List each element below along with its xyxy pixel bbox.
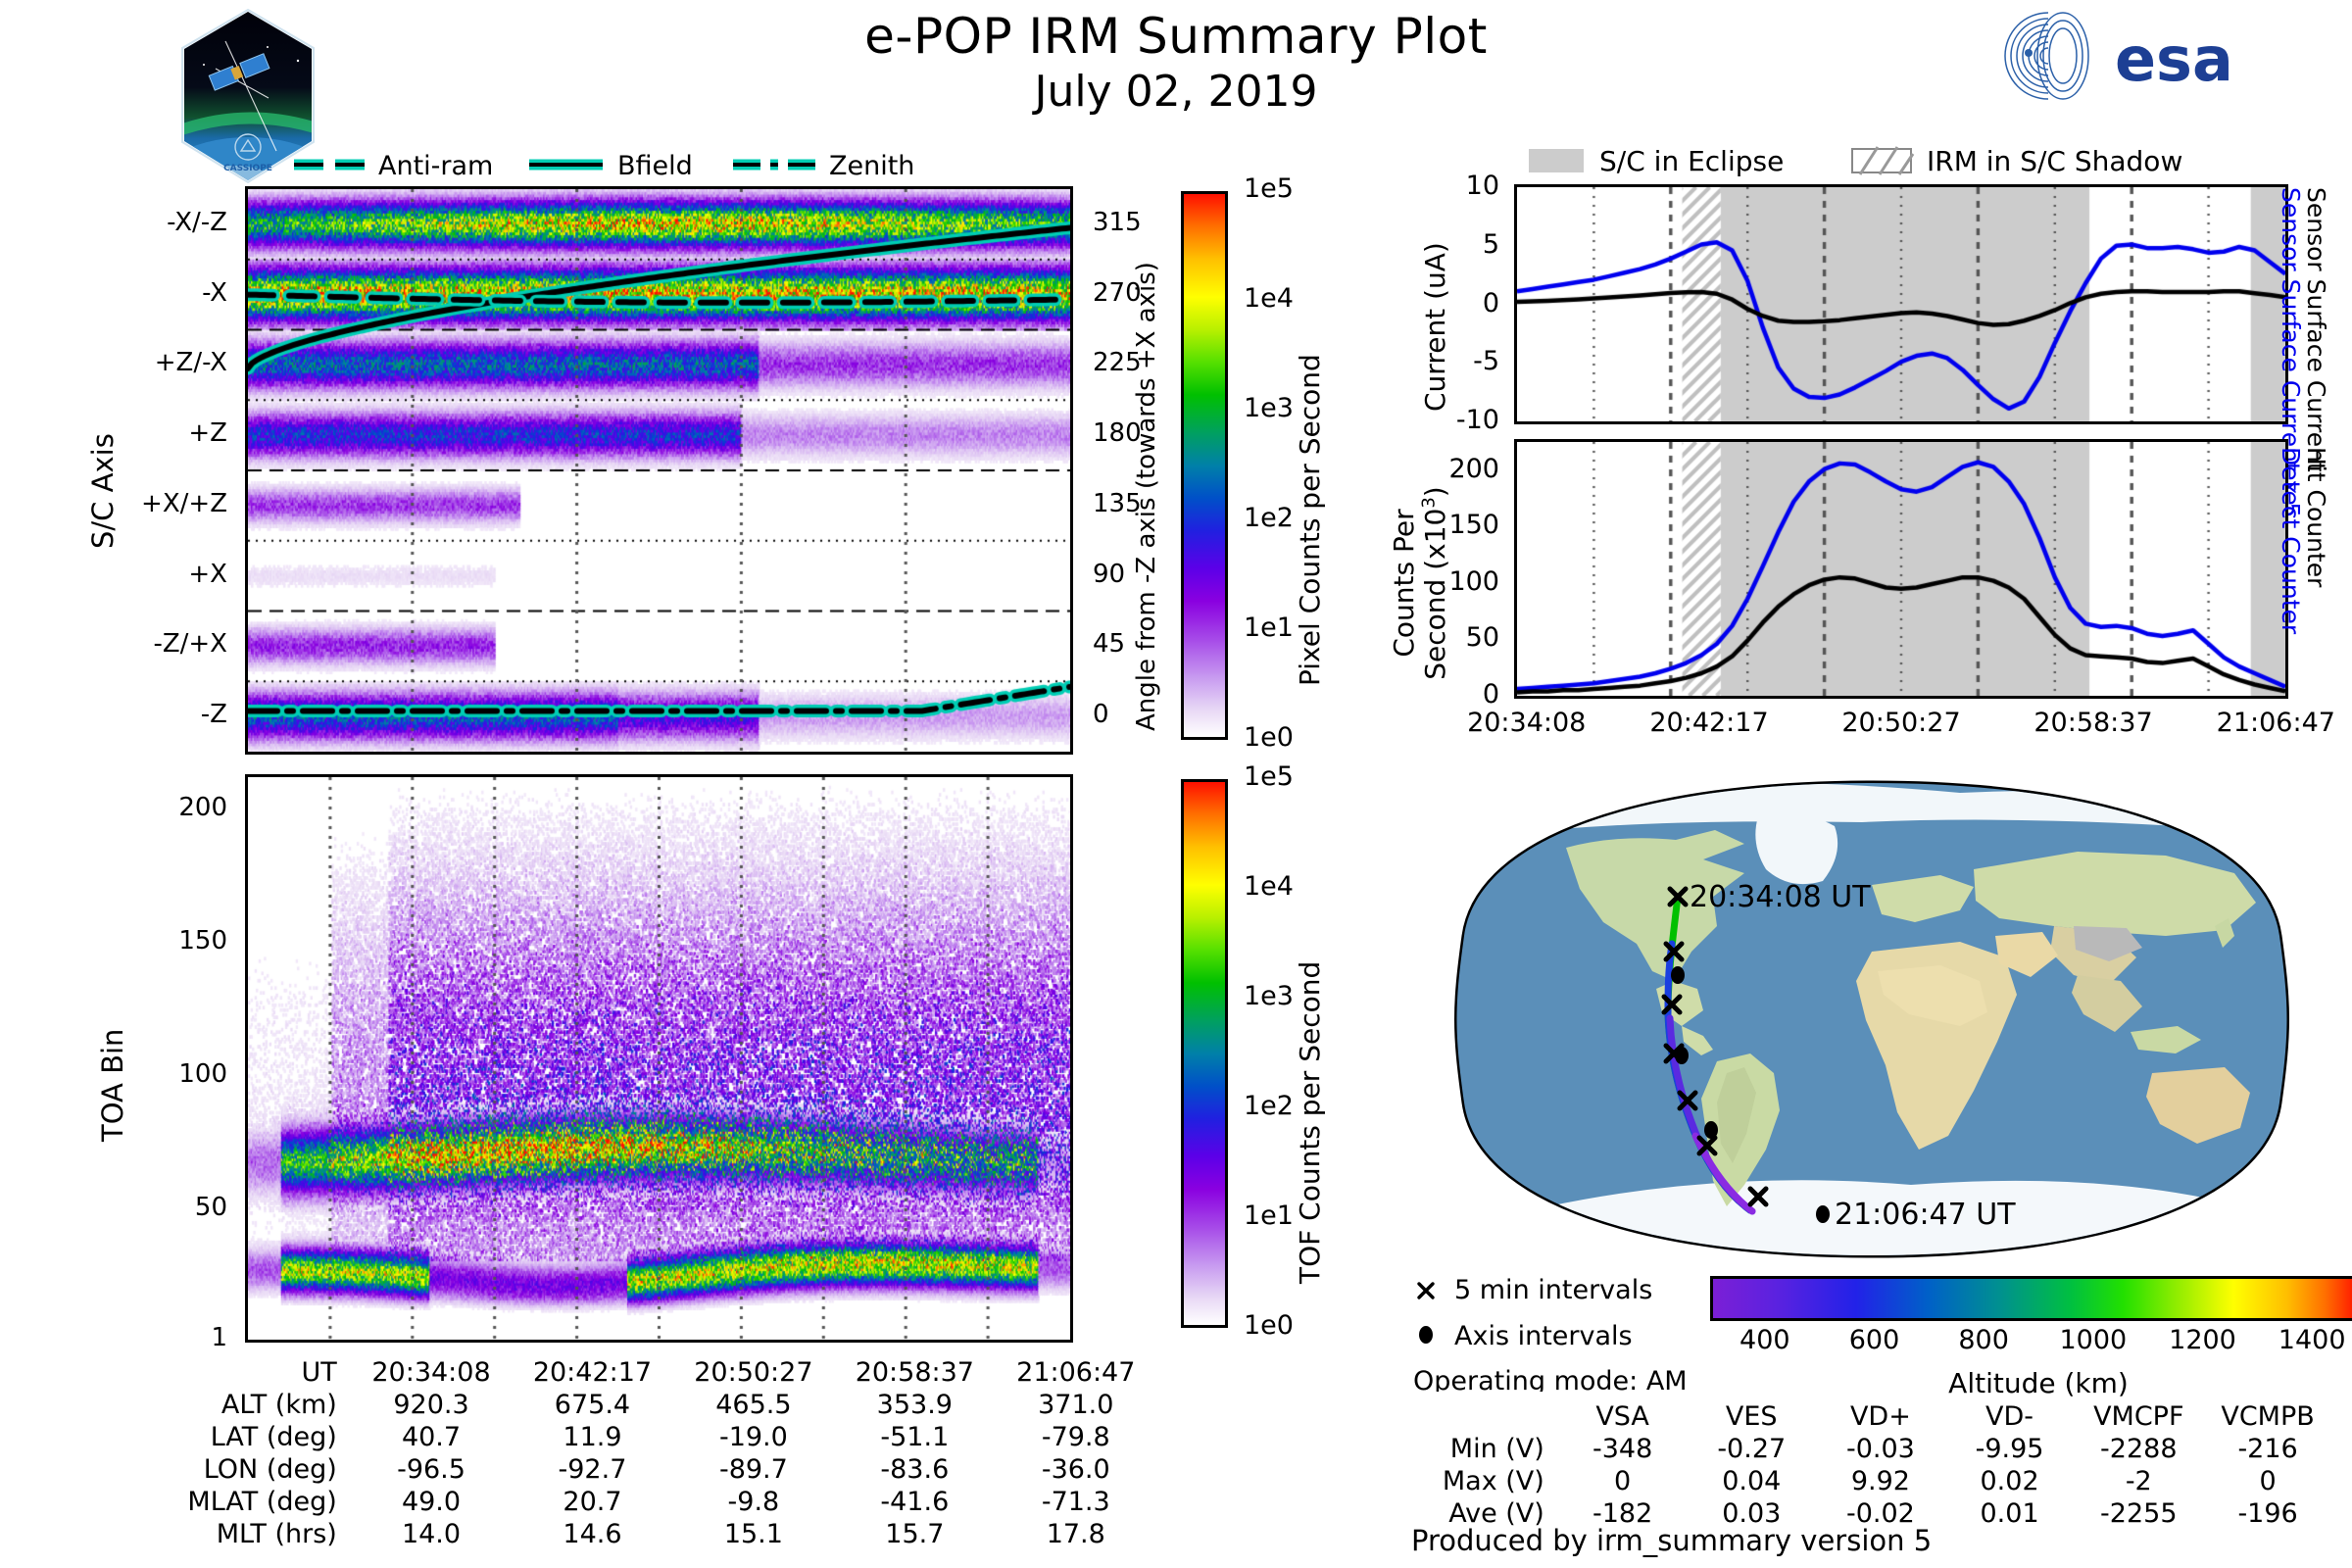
toa-ytick-1: 150 [178,926,227,955]
sc-axis-ytick-5: +X [188,560,227,589]
altitude-colorbar-label: Altitude (km) [1710,1367,2352,1399]
current-panel [1514,184,2288,424]
ephemeris-cell-ut-1: 20:42:17 [512,1357,672,1390]
voltage-col-header-vd: VD+ [1816,1401,1945,1434]
altitude-tick-1: 600 [1849,1325,1900,1355]
counts-xtick-4: 21:06:47 [2217,708,2335,738]
cvc1-ytick-0: 10 [1466,171,1499,201]
voltage-rowlabel-0: Min (V) [1411,1434,1558,1466]
voltage-cell-1-1: 0.04 [1687,1466,1816,1498]
ephemeris-row-mlat: MLAT (deg)49.020.7-9.8-41.6-71.3 [20,1487,1156,1519]
ephemeris-table: UT20:34:0820:42:1720:50:2720:58:3721:06:… [20,1357,1156,1551]
ephemeris-cell-alt-3: 353.9 [834,1390,995,1422]
voltage-cell-1-3: 0.02 [1945,1466,2075,1498]
legend-label-eclipse: S/C in Eclipse [1599,145,1784,177]
ephemeris-cell-lon-1: -92.7 [512,1454,672,1487]
toa-ytick-3: 50 [195,1193,227,1222]
sc-axis-ytick-3: +Z [188,418,227,448]
voltage-cell-2-3: 0.01 [1945,1498,2075,1531]
ephemeris-cell-lon-0: -96.5 [351,1454,512,1487]
ephemeris-cell-lon-3: -83.6 [834,1454,995,1487]
cvc2-ytick-1: 150 [1448,510,1499,540]
ephemeris-cell-mlat-1: 20.7 [512,1487,672,1519]
current-y2label-black: Sensor Surface Current [2330,186,2352,217]
ephemeris-rowlabel-lat: LAT (deg) [20,1422,351,1454]
sc-axis-y2tick-0: 315 [1093,208,1142,237]
ephemeris-row-ut: UT20:34:0820:42:1720:50:2720:58:3721:06:… [20,1357,1156,1390]
ephemeris-cell-mlat-3: -41.6 [834,1487,995,1519]
ephemeris-cell-lat-2: -19.0 [673,1422,834,1454]
tof-cb-tick-2: 1e3 [1244,981,1294,1011]
legend-label-anti-ram: Anti-ram [378,151,493,181]
sc-axis-ytick-1: -X [202,278,227,308]
ephemeris-cell-mlt-2: 15.1 [673,1519,834,1551]
pixel-cb-tick-3: 1e2 [1244,503,1294,533]
ephemeris-row-alt: ALT (km)920.3675.4465.5353.9371.0 [20,1390,1156,1422]
voltage-col-header-vd: VD- [1945,1401,2075,1434]
pixel-cb-tick-0: 1e5 [1244,173,1294,204]
ephemeris-cell-mlt-3: 15.7 [834,1519,995,1551]
tof-cb-tick-1: 1e4 [1244,871,1294,902]
altitude-tick-5: 1400 [2278,1325,2346,1355]
page-subtitle: July 02, 2019 [588,67,1764,117]
ephemeris-rowlabel-mlt: MLT (hrs) [20,1519,351,1551]
voltage-cell-1-0: 0 [1558,1466,1688,1498]
ephemeris-cell-ut-0: 20:34:08 [351,1357,512,1390]
ephemeris-cell-mlt-4: 17.8 [996,1519,1156,1551]
voltage-col-header-vcmpb: VCMPB [2203,1401,2332,1434]
pixel-cb-tick-4: 1e1 [1244,612,1294,643]
sc-axis-ytick-0: -X/-Z [167,208,227,237]
ephemeris-cell-mlat-4: -71.3 [996,1487,1156,1519]
voltage-cell-2-5: -196 [2203,1498,2332,1531]
cvc2-ytick-4: 0 [1483,679,1499,710]
voltage-cell-0-0: -348 [1558,1434,1688,1466]
legend-label-bfield: Bfield [617,151,693,181]
footer-produced-by: Produced by irm_summary version 5 [1411,1524,1932,1557]
ephemeris-cell-lon-2: -89.7 [673,1454,834,1487]
cvc2-ytick-3: 50 [1466,622,1499,653]
altitude-tick-4: 1200 [2169,1325,2236,1355]
ephemeris-cell-lat-3: -51.1 [834,1422,995,1454]
toa-ytick-0: 200 [178,793,227,822]
ephemeris-cell-mlat-2: -9.8 [673,1487,834,1519]
pixel-counts-colorbar [1181,191,1228,740]
ephemeris-cell-lat-4: -79.8 [996,1422,1156,1454]
ephemeris-cell-ut-2: 20:50:27 [673,1357,834,1390]
sc-axis-y2tick-6: 45 [1093,629,1125,659]
sc-axis-y2tick-7: 0 [1093,700,1109,729]
voltage-col-header-vsa: VSA [1558,1401,1688,1434]
counts-xtick-3: 20:58:37 [2033,708,2152,738]
altitude-tick-0: 400 [1739,1325,1790,1355]
counts-ylabel-line1: Counts Per [1388,509,1420,657]
sc-axis-spectrogram [245,186,1073,755]
voltage-cell-0-4: -2288 [2074,1434,2203,1466]
voltage-cell-0-2: -0.03 [1816,1434,1945,1466]
counts-xtick-0: 20:34:08 [1467,708,1586,738]
cvc1-ytick-1: 5 [1483,229,1499,260]
counts-ylabel-line2: Second (x103) [1419,486,1451,679]
tof-counts-colorbar [1181,779,1228,1328]
sc-axis-ytick-2: +Z/-X [155,348,227,377]
ephemeris-cell-ut-3: 20:58:37 [834,1357,995,1390]
ephemeris-cell-mlat-0: 49.0 [351,1487,512,1519]
toa-ytick-2: 100 [178,1059,227,1089]
voltage-corner-cell [1411,1401,1558,1434]
voltage-col-header-vmcpf: VMCPF [2074,1401,2203,1434]
page-title: e-POP IRM Summary Plot [588,8,1764,65]
spectrogram-legend: Anti-ram Bfield Zenith [294,147,1019,182]
map-legend-5min: 5 min intervals [1454,1275,1652,1305]
voltage-rowlabel-1: Max (V) [1411,1466,1558,1498]
eclipse-shade-legend: S/C in Eclipse IRM in S/C Shadow [1529,145,2332,178]
cvc1-ytick-4: -10 [1456,405,1499,435]
ephemeris-cell-lat-1: 11.9 [512,1422,672,1454]
sc-axis-ytick-4: +X/+Z [141,489,227,518]
voltage-cell-0-3: -9.95 [1945,1434,2075,1466]
esa-logo-text: esa [2115,24,2233,95]
toa-bin-ylabel: TOA Bin [96,1142,209,1175]
ground-track-map: 20:34:08 UT 21:06:47 UT [1450,779,2293,1259]
ephemeris-cell-alt-4: 371.0 [996,1390,1156,1422]
counts-xtick-2: 20:50:27 [1841,708,1960,738]
ephemeris-cell-mlt-0: 14.0 [351,1519,512,1551]
tof-cb-tick-5: 1e0 [1244,1310,1294,1341]
voltage-cell-1-5: 0 [2203,1466,2332,1498]
ephemeris-cell-lat-0: 40.7 [351,1422,512,1454]
voltage-header-row: VSAVESVD+VD-VMCPFVCMPB [1411,1401,2332,1434]
ephemeris-row-lon: LON (deg)-96.5-92.7-89.7-83.6-36.0 [20,1454,1156,1487]
altitude-tick-3: 1000 [2059,1325,2127,1355]
voltage-cell-1-4: -2 [2074,1466,2203,1498]
counts-xtick-1: 20:42:17 [1649,708,1768,738]
sc-axis-ytick-7: -Z [201,700,227,729]
esa-logo: esa [1989,10,2264,103]
voltage-row-0: Min (V)-348-0.27-0.03-9.95-2288-216 [1411,1434,2332,1466]
toa-ytick-4: 1 [211,1323,227,1352]
ephemeris-cell-alt-1: 675.4 [512,1390,672,1422]
voltage-cell-0-1: -0.27 [1687,1434,1816,1466]
counts-y2label-black: Hit Counter [2330,446,2352,476]
toa-bin-spectrogram [245,774,1073,1343]
ephemeris-row-mlt: MLT (hrs)14.014.615.115.717.8 [20,1519,1156,1551]
cassiope-logo-caption: CASSIOPE [223,164,272,173]
tof-cb-tick-3: 1e2 [1244,1091,1294,1121]
tof-cb-tick-4: 1e1 [1244,1200,1294,1231]
ephemeris-rowlabel-lon: LON (deg) [20,1454,351,1487]
ephemeris-cell-ut-4: 21:06:47 [996,1357,1156,1390]
ephemeris-rowlabel-mlat: MLAT (deg) [20,1487,351,1519]
ephemeris-cell-alt-2: 465.5 [673,1390,834,1422]
legend-label-shadow: IRM in S/C Shadow [1927,145,2182,177]
voltage-cell-2-4: -2255 [2074,1498,2203,1531]
cvc2-ytick-0: 200 [1448,454,1499,484]
ephemeris-rowlabel-ut: UT [20,1357,351,1390]
map-legend-axis: Axis intervals [1454,1321,1633,1351]
voltage-table: VSAVESVD+VD-VMCPFVCMPBMin (V)-348-0.27-0… [1411,1401,2332,1531]
ephemeris-cell-lon-4: -36.0 [996,1454,1156,1487]
voltage-cell-1-2: 9.92 [1816,1466,1945,1498]
map-end-label: 21:06:47 UT [1835,1198,2016,1232]
pixel-cb-tick-1: 1e4 [1244,283,1294,314]
sc-axis-y2tick-5: 90 [1093,560,1125,589]
cvc1-ytick-2: 0 [1483,288,1499,318]
ephemeris-row-lat: LAT (deg)40.711.9-19.0-51.1-79.8 [20,1422,1156,1454]
pixel-cb-tick-5: 1e0 [1244,722,1294,753]
ephemeris-cell-alt-0: 920.3 [351,1390,512,1422]
ephemeris-rowlabel-alt: ALT (km) [20,1390,351,1422]
sc-axis-ytick-6: -Z/+X [153,629,227,659]
counts-panel [1514,439,2288,699]
cvc2-ytick-2: 100 [1448,566,1499,597]
voltage-cell-0-5: -216 [2203,1434,2332,1466]
pixel-cb-tick-2: 1e3 [1244,393,1294,423]
voltage-col-header-ves: VES [1687,1401,1816,1434]
tof-cb-tick-0: 1e5 [1244,761,1294,792]
map-start-label: 20:34:08 UT [1690,880,1871,914]
operating-mode-label: Operating mode: AM [1413,1366,1688,1392]
sc-axis-ylabel: S/C Axis [86,549,202,582]
legend-label-zenith: Zenith [829,151,914,181]
cvc1-ytick-3: -5 [1473,346,1499,376]
ephemeris-cell-mlt-1: 14.6 [512,1519,672,1551]
altitude-colorbar [1710,1276,2352,1321]
altitude-tick-2: 800 [1958,1325,2009,1355]
voltage-row-1: Max (V)00.049.920.02-20 [1411,1466,2332,1498]
